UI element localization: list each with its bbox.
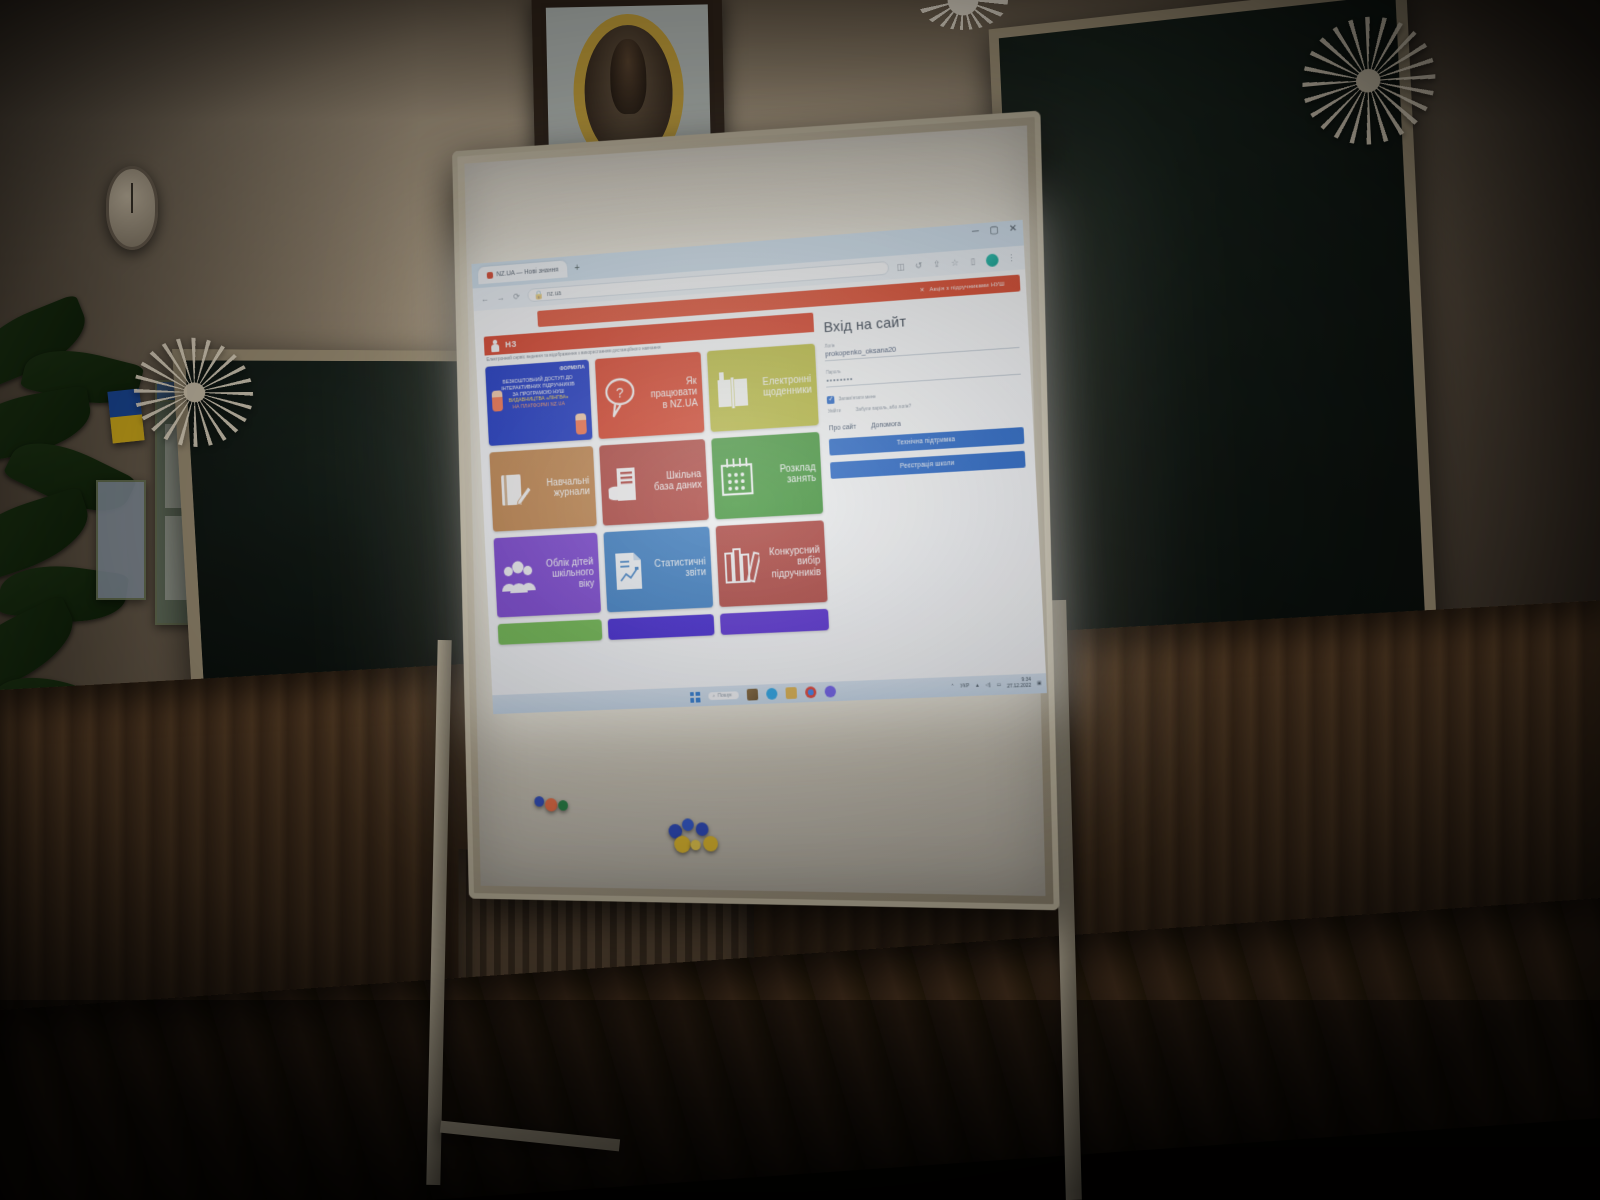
notification-icon[interactable]: ▣ — [1037, 680, 1042, 686]
forward-icon[interactable]: → — [496, 292, 506, 303]
tile-extra-green[interactable] — [498, 619, 603, 645]
calendar-icon — [718, 454, 757, 501]
new-tab-button[interactable]: + — [571, 262, 584, 273]
tile-label: Якпрацюватив NZ.UA — [650, 376, 698, 411]
svg-text:?: ? — [616, 385, 624, 401]
register-school-button[interactable]: Реєстрація школи — [830, 450, 1025, 478]
magnet[interactable] — [558, 800, 568, 810]
ad-text: БЕЗКОШТОВНИЙ ДОСТУП ДО ІНТЕРАКТИВНИХ ПІД… — [490, 370, 586, 412]
minimize-button[interactable]: ─ — [972, 226, 979, 237]
address-bar-url: nz.ua — [547, 290, 561, 298]
search-input[interactable]: ⌕ Пошук — [708, 691, 739, 700]
login-panel: Вхід на сайт Логін prokopenko_oksana20 П… — [823, 298, 1034, 630]
tile-e-diaries[interactable]: Електронніщоденники — [707, 344, 819, 432]
magnet[interactable] — [545, 798, 558, 811]
start-icon[interactable] — [690, 691, 701, 702]
people-group-icon — [500, 554, 537, 599]
tile-label: Розкладзанять — [780, 462, 817, 486]
tile-textbook-selection[interactable]: Конкурснийвибірпідручників — [716, 520, 828, 607]
magnet[interactable] — [682, 818, 694, 831]
magnet[interactable] — [703, 836, 718, 852]
volume-icon[interactable]: ◁) — [985, 682, 991, 688]
collections-icon[interactable]: ◫ — [895, 261, 906, 273]
clock-date: 27.12.2022 — [1007, 683, 1031, 690]
page-content: ✕ Акція з підручниками НУШ НЗ Електронни… — [474, 269, 1046, 695]
tile-extra-indigo-2[interactable] — [720, 609, 829, 635]
viber-icon[interactable] — [825, 685, 837, 697]
tile-label: Електронніщоденники — [762, 374, 812, 399]
tile-ad-banner[interactable]: ФОРМУЛА БЕЗКОШТОВНИЙ ДОСТУП ДО ІНТЕРАКТИ… — [485, 360, 592, 446]
split-screen-icon[interactable]: ▯ — [968, 255, 979, 267]
wall-notice — [96, 480, 146, 600]
tile-school-database[interactable]: Шкільнабаза даних — [599, 439, 709, 526]
language-indicator[interactable]: УКР — [960, 683, 969, 689]
site-logo-text: НЗ — [505, 339, 517, 349]
chrome-icon[interactable] — [805, 686, 817, 698]
tile-label: Конкурснийвибірпідручників — [769, 545, 821, 580]
reload-icon[interactable]: ⟳ — [511, 291, 521, 302]
tile-how-to-work[interactable]: ? Якпрацюватив NZ.UA — [595, 352, 705, 439]
search-icon: ⌕ — [712, 693, 715, 699]
help-link[interactable]: Допомога — [871, 421, 901, 430]
system-tray[interactable]: ⌃ УКР ▲ ◁) ▭ 9:34 27.12.2022 ▣ — [950, 678, 1042, 693]
tab-favicon — [487, 271, 493, 278]
chart-document-icon — [610, 548, 648, 594]
close-button[interactable]: ✕ — [1009, 223, 1018, 235]
profile-avatar[interactable] — [986, 253, 999, 267]
magnet[interactable] — [674, 836, 691, 853]
promo-close-icon[interactable]: ✕ — [920, 287, 925, 294]
notebook-pencil-icon — [495, 468, 532, 514]
lock-icon: 🔒 — [534, 289, 544, 300]
classroom-scene: Т.Шевченко — [0, 0, 1600, 1200]
remember-me-label: Запам'ятати мене — [838, 395, 876, 402]
battery-icon[interactable]: ▭ — [997, 682, 1002, 688]
magnet[interactable] — [691, 840, 701, 851]
projected-screen[interactable]: NZ.UA — Нові знання + ─ ▢ ✕ ← → ⟳ 🔒 nz.u… — [471, 220, 1047, 714]
search-placeholder: Пошук — [718, 692, 732, 698]
tray-overflow-icon[interactable]: ⌃ — [950, 684, 954, 690]
explorer-icon[interactable] — [747, 689, 759, 701]
forgot-password-link[interactable]: Забули пароль, або логін? — [856, 405, 912, 415]
nz-logo-icon — [491, 339, 501, 352]
open-book-icon — [713, 367, 752, 414]
folder-icon[interactable] — [786, 687, 798, 699]
tile-class-journals[interactable]: Навчальніжурнали — [489, 446, 597, 532]
promo-text: Акція з підручниками НУШ — [929, 281, 1004, 293]
back-icon[interactable]: ← — [480, 293, 490, 304]
tile-lesson-schedule[interactable]: Розкладзанять — [711, 432, 823, 520]
favorite-icon[interactable]: ☆ — [949, 257, 960, 269]
interactive-whiteboard[interactable]: NZ.UA — Нові знання + ─ ▢ ✕ ← → ⟳ 🔒 nz.u… — [452, 111, 1060, 911]
tile-statistical-reports[interactable]: Статистичнізвіти — [604, 527, 714, 613]
server-database-icon — [606, 461, 644, 507]
tile-label: Шкільнабаза даних — [654, 469, 703, 493]
remember-me-checkbox[interactable] — [827, 396, 835, 404]
tile-label: Навчальніжурнали — [546, 476, 590, 500]
tile-grid: ФОРМУЛА БЕЗКОШТОВНИЙ ДОСТУП ДО ІНТЕРАКТИ… — [485, 344, 829, 645]
tile-children-register[interactable]: Облік дітейшкільноговіку — [494, 533, 602, 618]
magnet[interactable] — [696, 822, 709, 836]
tile-label: Статистичнізвіти — [654, 556, 706, 580]
support-button[interactable]: Технічна підтримка — [829, 427, 1024, 456]
tab-title: NZ.UA — Нові знання — [496, 266, 558, 278]
books-shelf-icon — [722, 542, 761, 588]
telegram-icon[interactable] — [766, 688, 778, 700]
tile-label: Облік дітейшкільноговіку — [546, 557, 595, 591]
about-link[interactable]: Про сайт — [829, 423, 857, 432]
wifi-icon[interactable]: ▲ — [975, 683, 980, 689]
maximize-button[interactable]: ▢ — [989, 225, 999, 237]
taskbar-clock[interactable]: 9:34 27.12.2022 — [1007, 678, 1032, 690]
portrait-face — [610, 39, 647, 115]
login-submit-button[interactable]: Увійти — [828, 409, 841, 416]
wall-clock — [106, 166, 158, 250]
tile-extra-indigo-1[interactable] — [608, 614, 715, 640]
more-menu-icon[interactable]: ⋮ — [1006, 252, 1017, 264]
history-icon[interactable]: ↺ — [913, 260, 924, 272]
tiles-column: НЗ Електронний сервіс ведення та відобра… — [484, 313, 830, 645]
question-bubble-icon: ? — [601, 374, 639, 420]
share-icon[interactable]: ⇪ — [931, 258, 942, 270]
browser-tab[interactable]: NZ.UA — Нові знання — [478, 260, 568, 284]
magnet[interactable] — [534, 796, 544, 806]
